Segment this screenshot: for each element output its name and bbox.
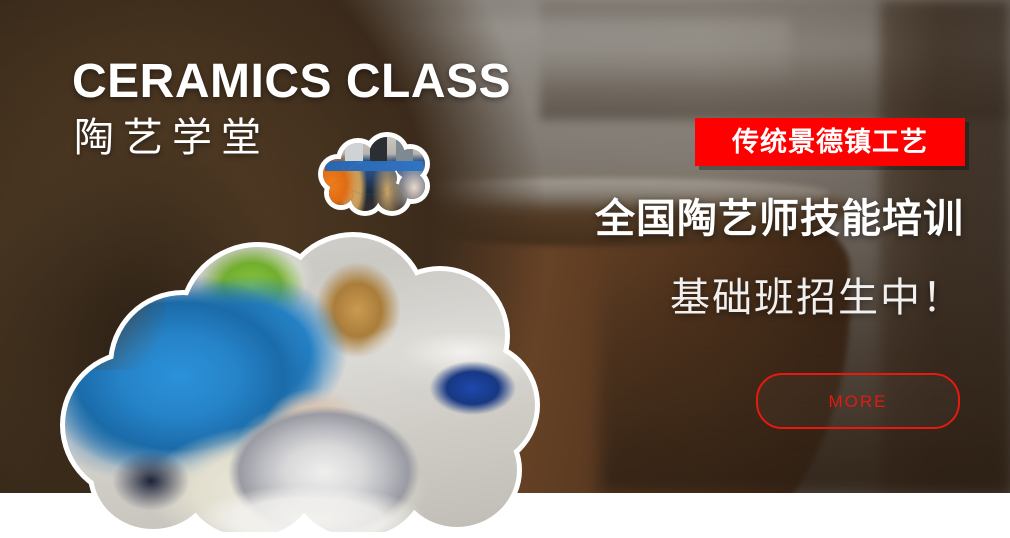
tradition-badge: 传统景德镇工艺 <box>695 118 965 166</box>
main-cloud-image-windows <box>60 232 540 532</box>
tradition-badge-label: 传统景德镇工艺 <box>732 129 928 156</box>
more-button[interactable]: MORE <box>756 373 960 429</box>
main-cloud-photo <box>60 232 540 532</box>
more-button-label: MORE <box>829 393 888 410</box>
tagline-secondary: 基础班招生中！ <box>0 278 964 318</box>
ceramics-class-banner: CERAMICS CLASS 陶艺学堂 <box>0 0 1010 538</box>
headline-english: CERAMICS CLASS <box>72 58 511 106</box>
tagline-primary: 全国陶艺师技能培训 <box>0 199 964 239</box>
headline-chinese: 陶艺学堂 <box>74 118 270 158</box>
